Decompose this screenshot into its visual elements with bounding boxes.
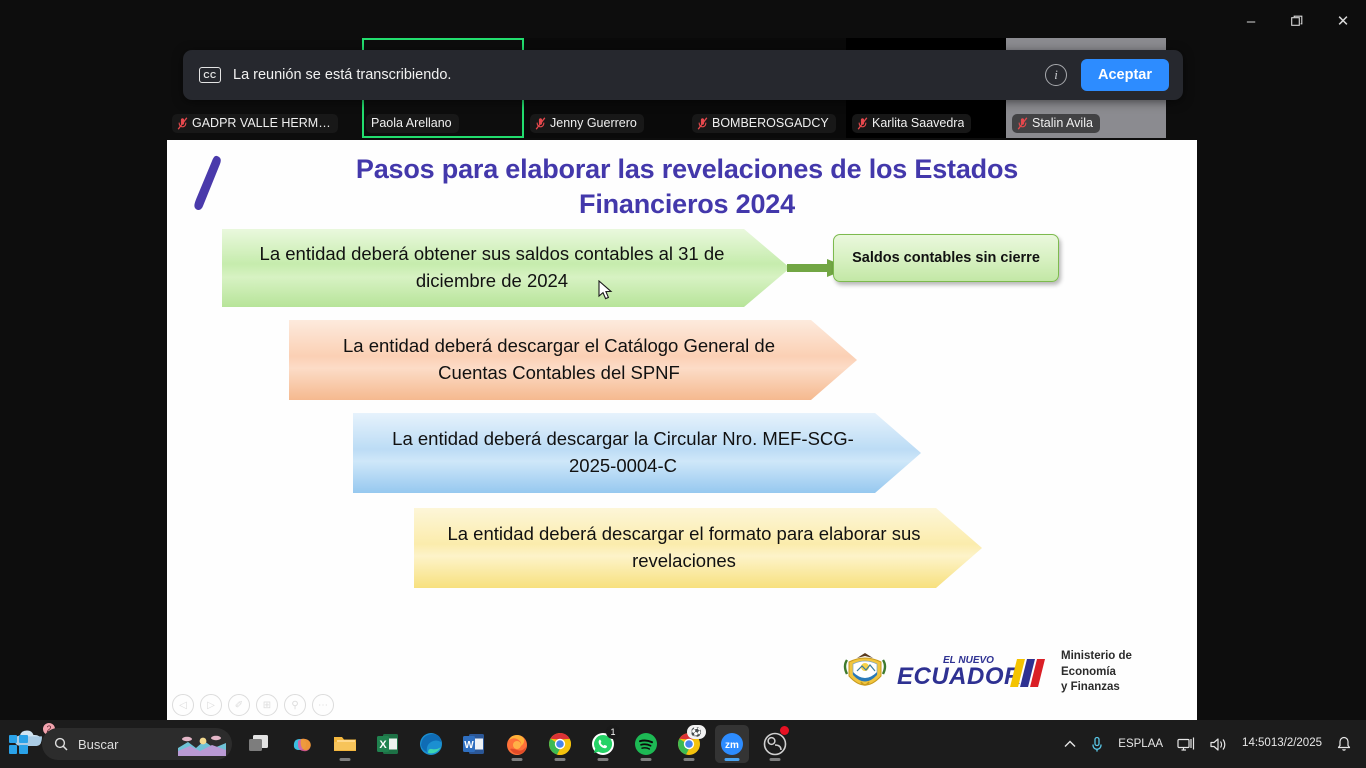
task-view-icon — [246, 731, 272, 757]
mic-off-icon — [1017, 117, 1028, 130]
firefox-icon — [504, 731, 530, 757]
more-options-button[interactable]: ⋯ — [312, 694, 334, 716]
volume-icon — [1209, 737, 1227, 752]
all-slides-button[interactable]: ⊞ — [256, 694, 278, 716]
app-running-indicator — [512, 758, 523, 761]
taskbar-app-zoom[interactable]: zm — [715, 725, 749, 763]
participant-nameplate: Karlita Saavedra — [852, 114, 971, 133]
step-chevron-4[interactable]: La entidad deberá descargar el formato p… — [414, 508, 982, 588]
participant-name: Jenny Guerrero — [550, 116, 637, 130]
slideshow-toolbar: ◁ ▷ ✐ ⊞ ⚲ ⋯ — [172, 694, 334, 716]
system-tray: ESP LAA 14:50 13/2/2025 — [1057, 720, 1366, 768]
app-running-indicator — [555, 758, 566, 761]
step-text: La entidad deberá obtener sus saldos con… — [244, 241, 740, 295]
previous-slide-button[interactable]: ◁ — [172, 694, 194, 716]
ministry-line-2: y Finanzas — [1061, 680, 1163, 696]
page-title: Pasos para elaborar las revelaciones de … — [287, 152, 1087, 221]
svg-text:W: W — [464, 740, 474, 751]
transcription-banner: CC La reunión se está transcribiendo. i … — [183, 50, 1183, 100]
search-placeholder: Buscar — [78, 737, 178, 752]
pen-tool-button[interactable]: ✐ — [228, 694, 250, 716]
search-icon — [54, 737, 68, 751]
accept-button[interactable]: Aceptar — [1081, 59, 1169, 91]
participant-name: Stalin Avila — [1032, 116, 1093, 130]
excel-icon: X — [375, 731, 401, 757]
language-indicator[interactable]: ESP LAA — [1111, 720, 1170, 768]
windows-logo-icon — [9, 735, 28, 754]
minimize-button[interactable]: – — [1228, 0, 1274, 42]
app-running-indicator — [598, 758, 609, 761]
app-running-indicator — [641, 758, 652, 761]
mic-off-icon — [535, 117, 546, 130]
step-text: La entidad deberá descargar el Catálogo … — [311, 333, 807, 387]
callout-box[interactable]: Saldos contables sin cierre — [833, 234, 1059, 282]
window-controls: – ✕ — [1228, 0, 1366, 42]
screen: – ✕ GADPR VALLE HERM… Paola Arella — [0, 0, 1366, 768]
presentation-slide[interactable]: Pasos para elaborar las revelaciones de … — [167, 140, 1197, 720]
app-running-indicator — [684, 758, 695, 761]
recording-indicator — [780, 726, 789, 735]
closed-caption-icon: CC — [199, 67, 221, 83]
network-icon — [1177, 737, 1195, 752]
clock[interactable]: 14:50 13/2/2025 — [1234, 720, 1330, 768]
mic-off-icon — [177, 117, 188, 130]
word-icon: W — [461, 731, 487, 757]
svg-text:X: X — [379, 739, 387, 751]
coat-of-arms-icon — [839, 648, 891, 698]
taskbar-app-firefox[interactable] — [500, 725, 534, 763]
next-slide-button[interactable]: ▷ — [200, 694, 222, 716]
ecuador-ministry-logo: EL NUEVO ECUADOR Ministerio de Economía … — [839, 645, 1163, 700]
step-chevron-2[interactable]: La entidad deberá descargar el Catálogo … — [289, 320, 857, 400]
copilot-icon — [289, 731, 315, 757]
ministry-line-1: Ministerio de Economía — [1061, 649, 1163, 680]
participant-nameplate: Paola Arellano — [366, 114, 459, 133]
language-line-1: ESP — [1118, 737, 1141, 751]
restore-button[interactable] — [1274, 0, 1320, 42]
taskbar: 2 Buscar — [0, 720, 1366, 768]
participant-name: GADPR VALLE HERM… — [192, 116, 331, 130]
taskbar-app-whatsapp[interactable]: 1 — [586, 725, 620, 763]
taskbar-app-edge[interactable] — [414, 725, 448, 763]
brand-slash-icon — [191, 154, 225, 212]
participant-name: Karlita Saavedra — [872, 116, 964, 130]
step-chevron-1[interactable]: La entidad deberá obtener sus saldos con… — [222, 229, 790, 307]
taskbar-app-word[interactable]: W — [457, 725, 491, 763]
app-running-indicator — [340, 758, 351, 761]
language-line-2: LAA — [1141, 737, 1163, 751]
wordmark-main: ECUADOR — [897, 663, 1022, 690]
taskbar-app-file-explorer[interactable] — [328, 725, 362, 763]
restore-icon — [1291, 15, 1303, 27]
mic-off-icon — [697, 117, 708, 130]
participant-nameplate: GADPR VALLE HERM… — [172, 114, 338, 133]
transcription-message: La reunión se está transcribiendo. — [233, 67, 1045, 83]
close-button[interactable]: ✕ — [1320, 0, 1366, 42]
tray-volume-button[interactable] — [1202, 720, 1234, 768]
chrome-secondary-badge: ⚽ — [687, 725, 706, 739]
ecuador-wordmark: EL NUEVO ECUADOR — [897, 651, 1045, 695]
svg-text:zm: zm — [725, 740, 739, 751]
step-text: La entidad deberá descargar el formato p… — [436, 521, 932, 575]
taskbar-app-obs[interactable] — [758, 725, 792, 763]
zoom-tool-button[interactable]: ⚲ — [284, 694, 306, 716]
participant-nameplate: Stalin Avila — [1012, 114, 1100, 133]
start-button[interactable] — [0, 726, 36, 762]
taskbar-app-spotify[interactable] — [629, 725, 663, 763]
search-thumbnail-image — [178, 732, 226, 756]
participant-nameplate: Jenny Guerrero — [530, 114, 644, 133]
taskbar-app-excel[interactable]: X — [371, 725, 405, 763]
search-input[interactable]: Buscar — [42, 728, 232, 760]
clock-date: 13/2/2025 — [1271, 736, 1322, 752]
bell-icon — [1337, 736, 1351, 752]
tray-microphone-button[interactable] — [1083, 720, 1111, 768]
whatsapp-badge: 1 — [606, 725, 620, 739]
step-text: La entidad deberá descargar la Circular … — [375, 426, 871, 480]
app-running-indicator — [725, 758, 740, 761]
taskbar-app-copilot[interactable] — [285, 725, 319, 763]
chrome-icon — [547, 731, 573, 757]
participant-name: Paola Arellano — [371, 116, 452, 130]
app-running-indicator — [770, 758, 781, 761]
mic-off-icon — [857, 117, 868, 130]
participant-nameplate: BOMBEROSGADCY — [692, 114, 836, 133]
clock-time: 14:50 — [1242, 736, 1271, 752]
notifications-button[interactable] — [1330, 720, 1358, 768]
taskbar-apps: X W — [242, 725, 792, 763]
chevron-up-icon — [1064, 740, 1076, 748]
taskbar-app-task-view[interactable] — [242, 725, 276, 763]
folder-icon — [332, 731, 358, 757]
spotify-icon — [633, 731, 659, 757]
tray-overflow-button[interactable] — [1057, 720, 1083, 768]
info-icon[interactable]: i — [1045, 64, 1067, 86]
ministry-name: Ministerio de Economía y Finanzas — [1061, 649, 1163, 696]
taskbar-app-chrome[interactable] — [543, 725, 577, 763]
microphone-icon — [1090, 736, 1104, 753]
edge-icon — [418, 731, 444, 757]
tray-network-button[interactable] — [1170, 720, 1202, 768]
zoom-icon: zm — [719, 731, 745, 757]
step-chevron-3[interactable]: La entidad deberá descargar la Circular … — [353, 413, 921, 493]
participant-name: BOMBEROSGADCY — [712, 116, 829, 130]
taskbar-app-chrome-secondary[interactable]: ⚽ — [672, 725, 706, 763]
